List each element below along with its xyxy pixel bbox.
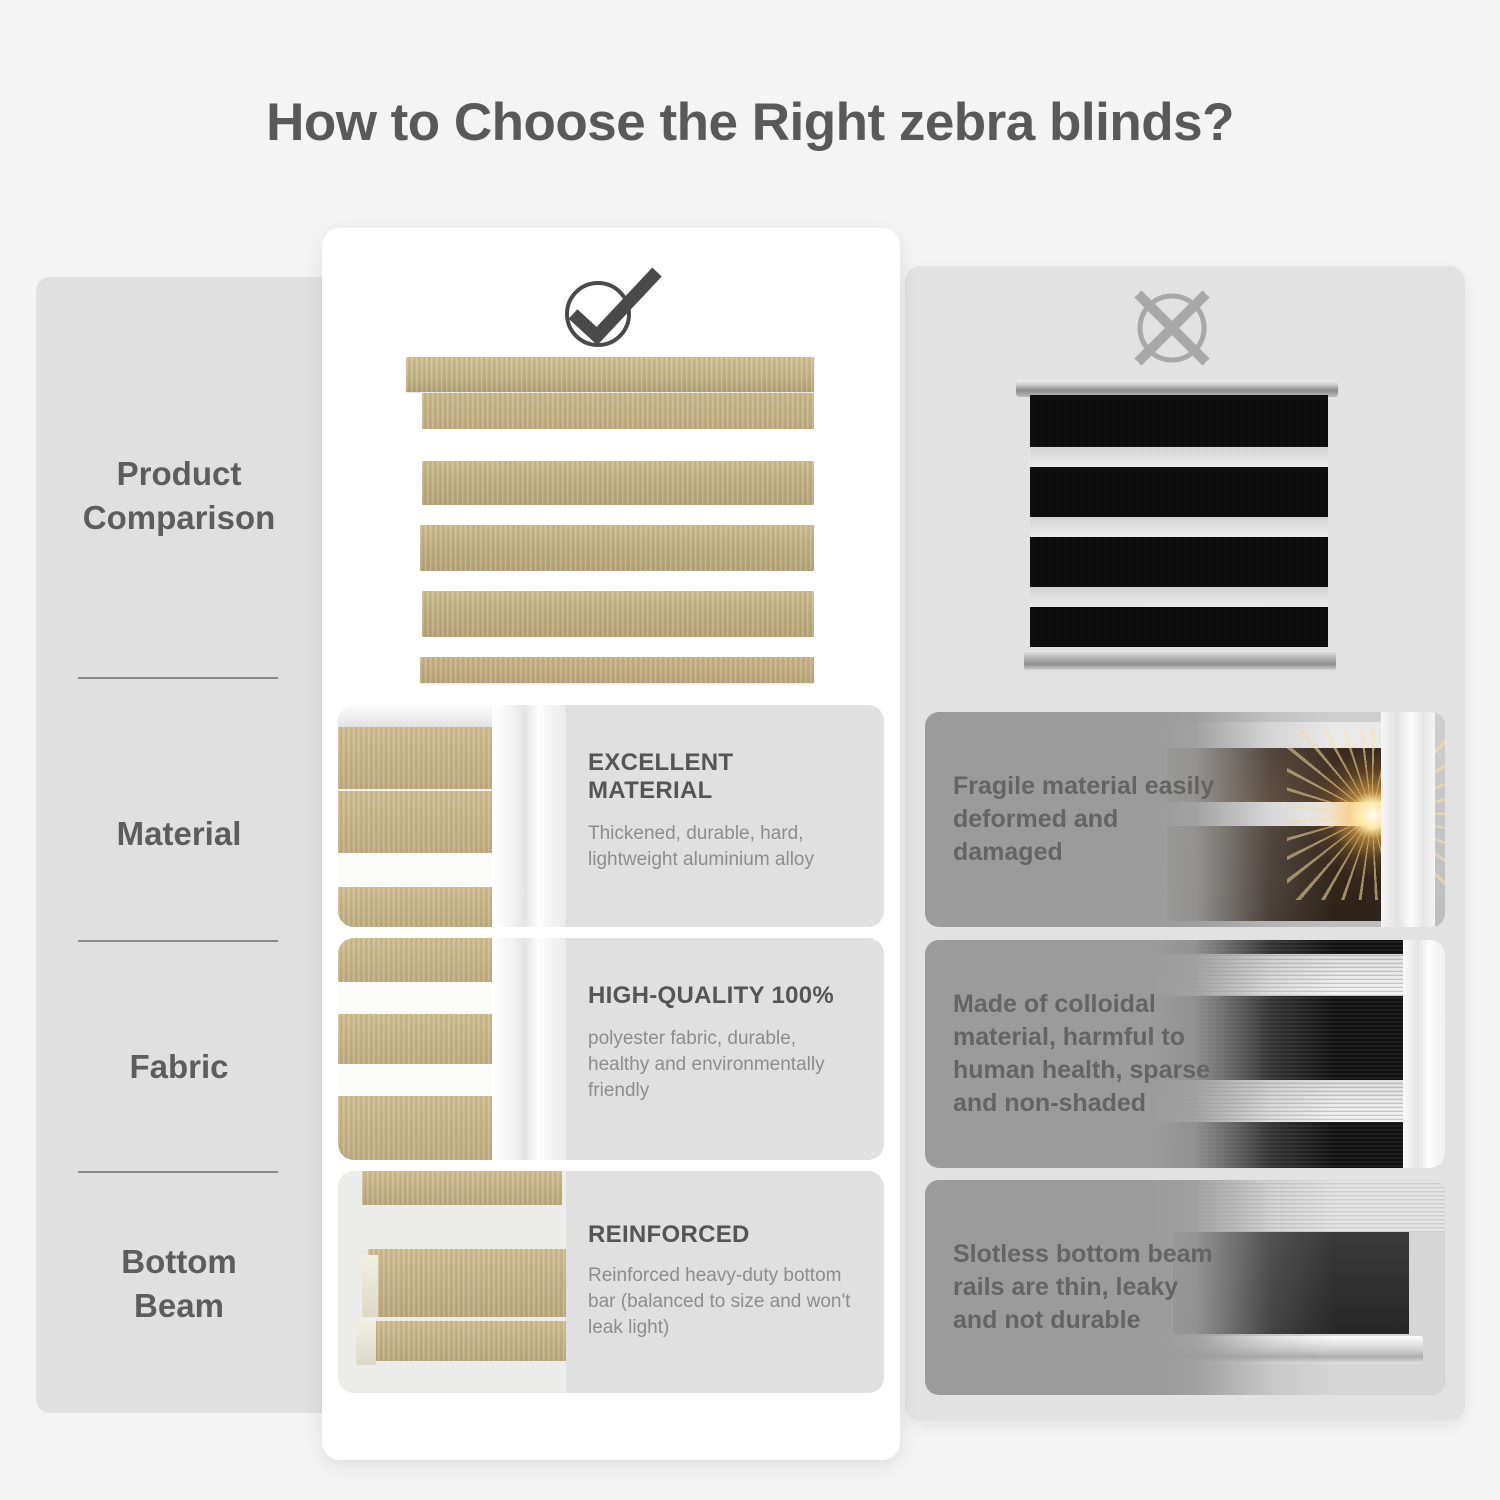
negative-feature-text: Made of colloidal material, harmful to h… bbox=[953, 940, 1223, 1168]
sun-rays bbox=[1287, 730, 1445, 900]
row-label-bottom-beam: Bottom Beam bbox=[36, 1240, 322, 1328]
blind-slat bbox=[338, 1096, 508, 1160]
blind-slat bbox=[368, 1249, 566, 1317]
blind-slat bbox=[338, 1014, 508, 1064]
window-frame-side bbox=[492, 705, 566, 927]
blind-slat bbox=[422, 591, 814, 637]
feature-description: Thickened, durable, hard, lightweight al… bbox=[588, 821, 862, 873]
row-label-line-2: Beam bbox=[36, 1284, 322, 1328]
negative-feature-text: Fragile material easily deformed and dam… bbox=[953, 712, 1223, 927]
sheer-gap bbox=[338, 1064, 508, 1096]
blind-slat bbox=[338, 938, 508, 982]
row-divider-3 bbox=[78, 1171, 278, 1173]
row-label-product-comparison: Product Comparison bbox=[36, 452, 322, 540]
fabric-text-block: HIGH-QUALITY 100% polyester fabric, dura… bbox=[566, 938, 884, 1160]
sheer-gap bbox=[338, 853, 508, 887]
window-frame-side bbox=[1381, 712, 1435, 927]
blind-slat bbox=[362, 1171, 562, 1205]
row-label-column: Product Comparison Material Fabric Botto… bbox=[36, 277, 322, 1413]
sheer-gap bbox=[338, 982, 508, 1014]
material-closeup-image bbox=[338, 705, 566, 927]
bottom-bar bbox=[420, 657, 814, 683]
fabric-closeup-image bbox=[338, 938, 566, 1160]
feature-title: EXCELLENT MATERIAL bbox=[588, 749, 862, 805]
feature-description: polyester fabric, durable, healthy and e… bbox=[588, 1026, 862, 1105]
window-frame-side bbox=[492, 938, 566, 1160]
material-text-block: EXCELLENT MATERIAL Thickened, durable, h… bbox=[566, 705, 884, 927]
sun-flare bbox=[1307, 750, 1437, 880]
blind-slat bbox=[420, 525, 814, 571]
blind-slat bbox=[422, 461, 814, 505]
feature-title: REINFORCED bbox=[588, 1221, 862, 1249]
slat-endcap bbox=[362, 1255, 378, 1317]
headrail bbox=[406, 357, 814, 392]
positive-feature-row-material: EXCELLENT MATERIAL Thickened, durable, h… bbox=[338, 705, 884, 927]
row-label-line-1: Bottom bbox=[36, 1240, 322, 1284]
bottom-bar bbox=[368, 1321, 566, 1361]
positive-hero-image bbox=[406, 357, 814, 695]
infographic-root: How to Choose the Right zebra blinds? Pr… bbox=[0, 0, 1500, 1500]
positive-feature-row-bottom-beam: REINFORCED Reinforced heavy-duty bottom … bbox=[338, 1171, 884, 1393]
window-frame-side bbox=[1403, 940, 1445, 1168]
negative-feature-text: Slotless bottom beam rails are thin, lea… bbox=[953, 1180, 1223, 1395]
negative-feature-row-fabric: Made of colloidal material, harmful to h… bbox=[925, 940, 1445, 1168]
headrail-front bbox=[422, 393, 814, 429]
bottom-beam-closeup-image bbox=[338, 1171, 566, 1393]
bottom-bar-endcap bbox=[356, 1319, 376, 1365]
cross-circle-icon bbox=[1124, 283, 1220, 373]
aluminium-bottom-rail bbox=[1024, 651, 1336, 670]
bottom-beam-text-block: REINFORCED Reinforced heavy-duty bottom … bbox=[566, 1171, 884, 1393]
negative-feature-row-material: Fragile material easily deformed and dam… bbox=[925, 712, 1445, 927]
row-divider-1 bbox=[78, 677, 278, 679]
positive-feature-row-fabric: HIGH-QUALITY 100% polyester fabric, dura… bbox=[338, 938, 884, 1160]
row-divider-2 bbox=[78, 940, 278, 942]
row-label-fabric: Fabric bbox=[36, 1045, 322, 1089]
page-title: How to Choose the Right zebra blinds? bbox=[0, 92, 1500, 153]
blind-slat bbox=[338, 887, 508, 927]
check-circle-icon bbox=[551, 266, 667, 352]
zebra-fabric bbox=[1030, 395, 1328, 647]
row-label-line-2: Comparison bbox=[36, 496, 322, 540]
blind-slat bbox=[338, 727, 508, 789]
row-label-material: Material bbox=[36, 812, 322, 856]
feature-description: Reinforced heavy-duty bottom bar (balanc… bbox=[588, 1263, 862, 1342]
blind-slat bbox=[338, 791, 508, 853]
negative-hero-image bbox=[1016, 380, 1338, 670]
feature-title: HIGH-QUALITY 100% bbox=[588, 982, 862, 1010]
negative-feature-row-bottom-beam: Slotless bottom beam rails are thin, lea… bbox=[925, 1180, 1445, 1395]
row-label-line-1: Product bbox=[36, 452, 322, 496]
